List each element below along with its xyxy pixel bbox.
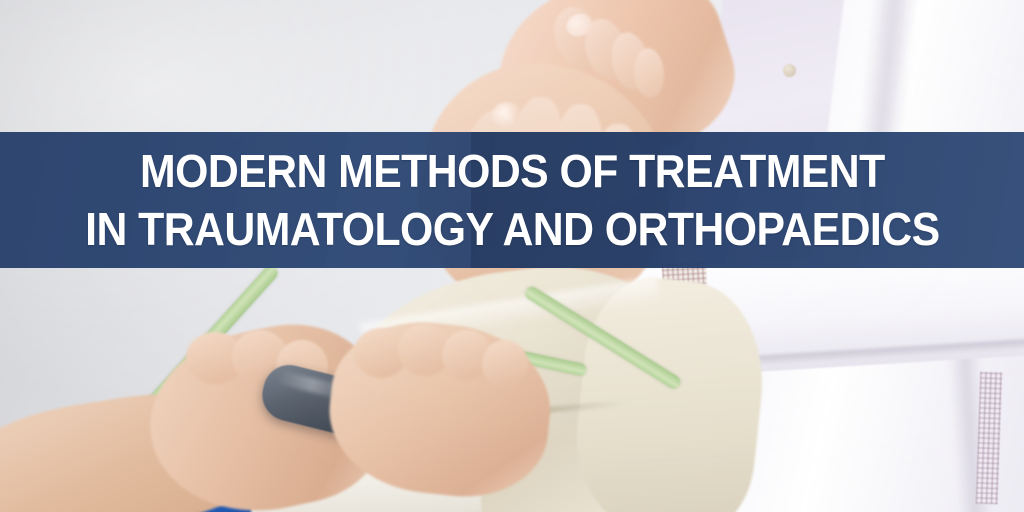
title-band: MODERN METHODS OF TREATMENT IN TRAUMATOL… — [0, 132, 1024, 268]
treatment-banner: MODERN METHODS OF TREATMENT IN TRAUMATOL… — [0, 0, 1024, 512]
banner-title-line-2: IN TRAUMATOLOGY AND ORTHOPAEDICS — [85, 200, 939, 258]
banner-title-line-1: MODERN METHODS OF TREATMENT — [140, 142, 885, 200]
